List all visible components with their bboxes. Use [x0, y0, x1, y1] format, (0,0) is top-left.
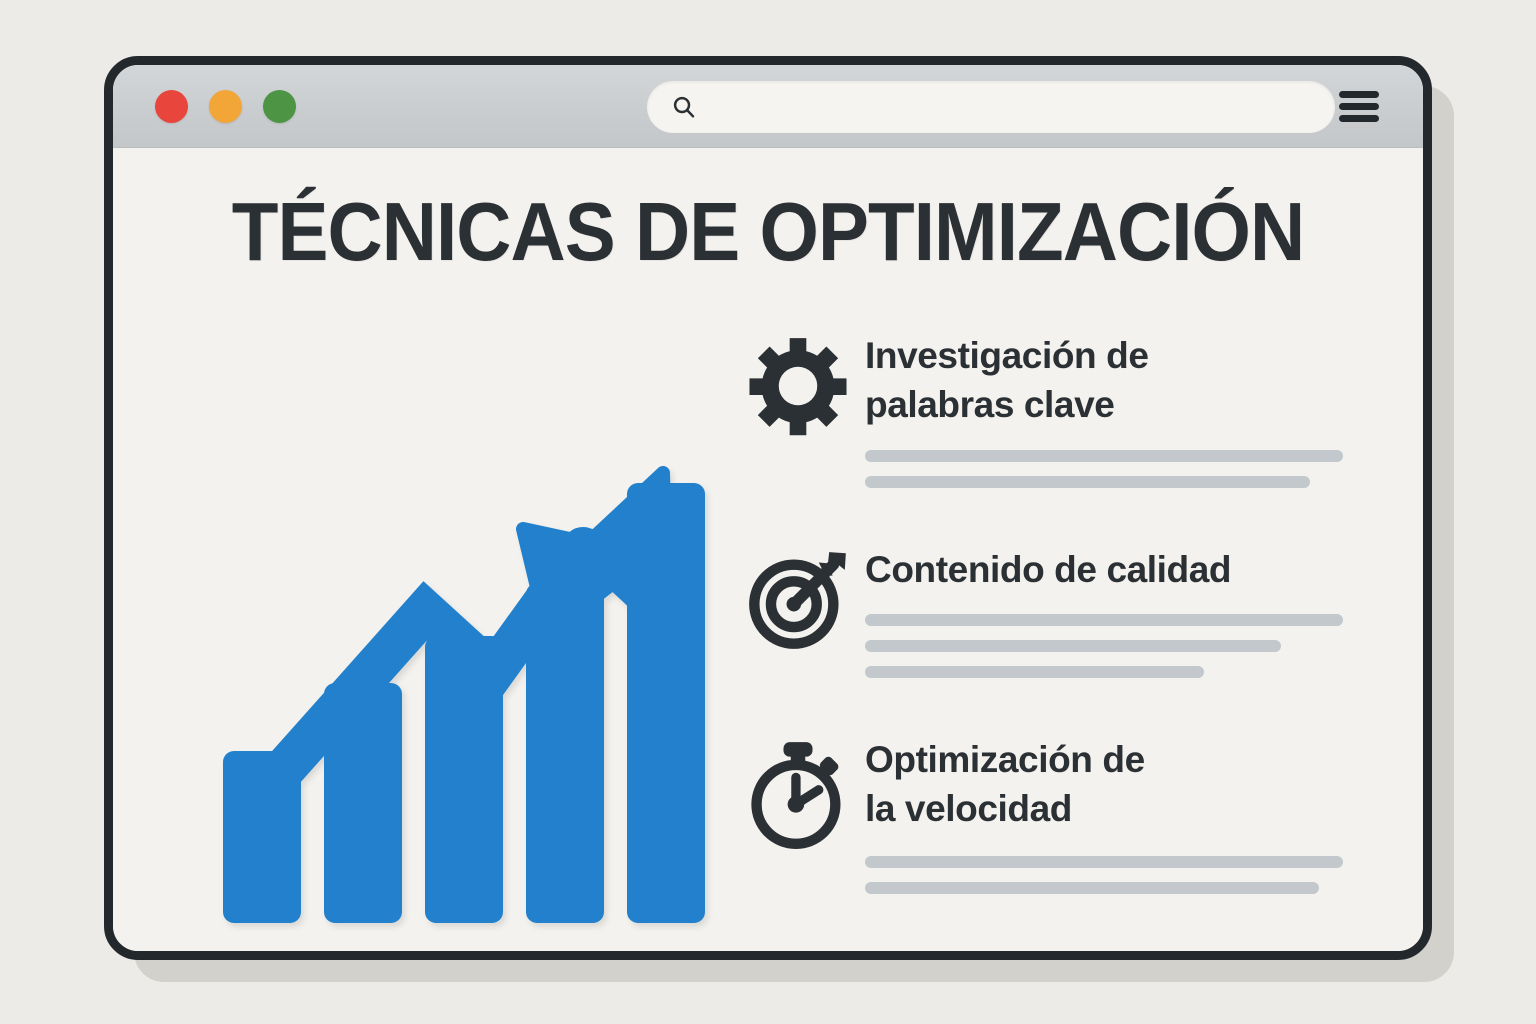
feature-icon-wrap: [743, 734, 853, 850]
bar-5: [627, 483, 705, 923]
placeholder-line: [865, 476, 1310, 488]
feature-item-speed-optimization[interactable]: Optimización de la velocidad: [743, 734, 1343, 908]
search-bar[interactable]: [647, 81, 1335, 133]
hamburger-menu-icon[interactable]: [1339, 91, 1379, 122]
placeholder-line: [865, 640, 1281, 652]
placeholder-lines: [865, 614, 1343, 678]
search-icon: [671, 94, 697, 120]
placeholder-lines: [865, 450, 1343, 488]
placeholder-line: [865, 882, 1319, 894]
screenshot-canvas: TÉCNICAS DE OPTIMIZACIÓN: [0, 0, 1536, 1024]
hamburger-bar-1: [1339, 91, 1379, 98]
hamburger-bar-2: [1339, 103, 1379, 110]
stopwatch-icon: [746, 738, 850, 850]
browser-window: TÉCNICAS DE OPTIMIZACIÓN: [104, 56, 1432, 960]
close-button[interactable]: [155, 90, 188, 123]
feature-label: Optimización de la velocidad: [865, 736, 1343, 834]
window-controls: [155, 90, 296, 123]
placeholder-line: [865, 450, 1343, 462]
gear-icon: [746, 334, 850, 438]
feature-body: Contenido de calidad: [853, 544, 1343, 693]
placeholder-line: [865, 666, 1204, 678]
placeholder-line: [865, 614, 1343, 626]
feature-icon-wrap: [743, 544, 853, 652]
page-title: TÉCNICAS DE OPTIMIZACIÓN: [165, 184, 1370, 280]
feature-item-quality-content[interactable]: Contenido de calidad: [743, 544, 1343, 693]
browser-title-bar: [113, 65, 1423, 148]
target-arrow-icon: [746, 548, 850, 652]
feature-body: Investigación de palabras clave: [853, 330, 1343, 502]
bar-2: [324, 683, 402, 923]
bar-1: [223, 751, 301, 923]
feature-list: Investigación de palabras clave: [743, 330, 1343, 950]
feature-body: Optimización de la velocidad: [853, 734, 1343, 908]
minimize-button[interactable]: [209, 90, 242, 123]
bar-4: [526, 583, 604, 923]
maximize-button[interactable]: [263, 90, 296, 123]
hamburger-bar-3: [1339, 115, 1379, 122]
feature-label: Contenido de calidad: [865, 546, 1343, 595]
feature-item-keyword-research[interactable]: Investigación de palabras clave: [743, 330, 1343, 502]
growth-bar-chart: [193, 343, 793, 953]
placeholder-lines: [865, 856, 1343, 894]
feature-label: Investigación de palabras clave: [865, 332, 1343, 430]
bar-3: [425, 636, 503, 923]
placeholder-line: [865, 856, 1343, 868]
page-content: TÉCNICAS DE OPTIMIZACIÓN: [113, 148, 1423, 951]
feature-icon-wrap: [743, 330, 853, 438]
